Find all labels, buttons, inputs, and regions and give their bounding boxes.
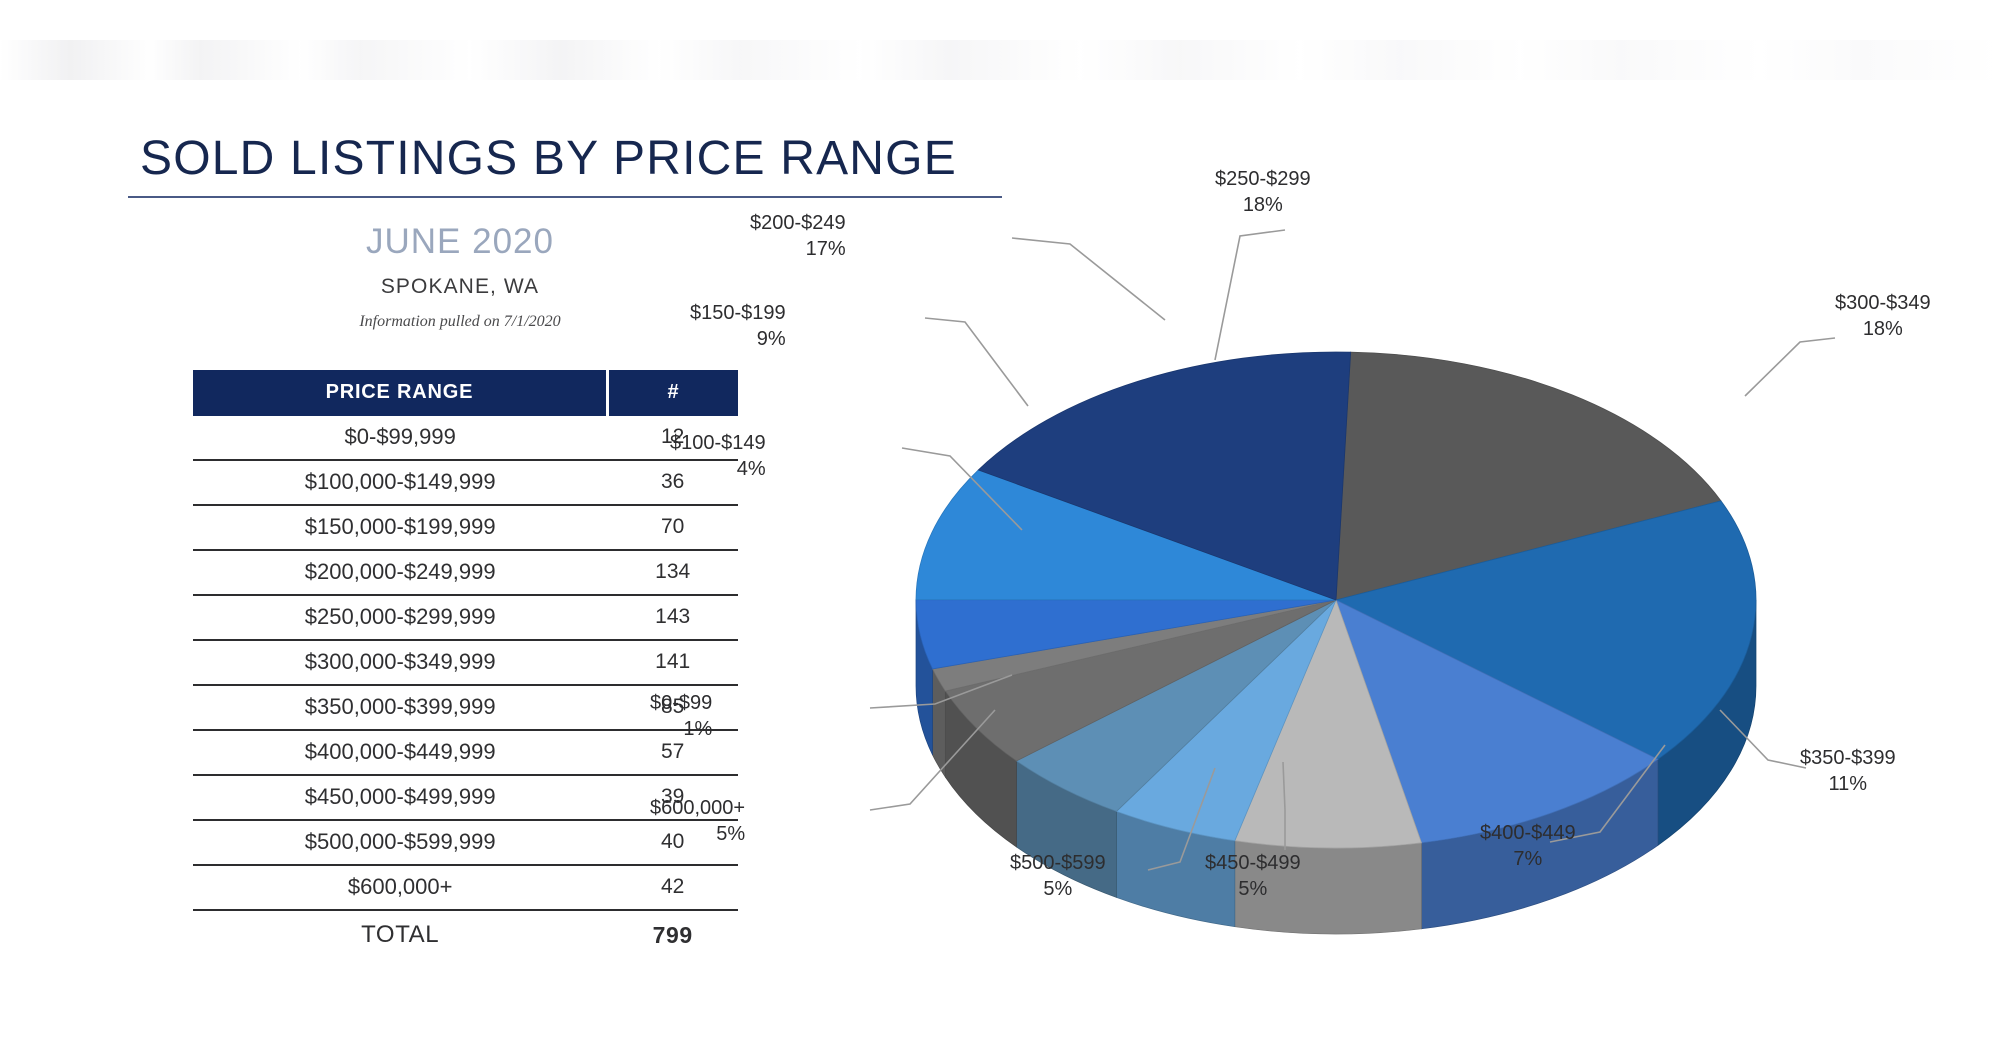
cell-price-range: $600,000+ xyxy=(193,865,607,910)
price-range-table: PRICE RANGE # $0-$99,99912$100,000-$149,… xyxy=(193,370,738,958)
subtitle-note: Information pulled on 7/1/2020 xyxy=(180,313,740,331)
cell-price-range: $100,000-$149,999 xyxy=(193,460,607,505)
total-count: 799 xyxy=(607,910,738,958)
table-row: $250,000-$299,999143 xyxy=(193,595,738,640)
pie-label-600000-plus: $600,000+5% xyxy=(650,795,745,848)
pie-label-250-299: $250-$29918% xyxy=(1215,166,1311,219)
top-banner-smudge xyxy=(0,40,2000,80)
cell-count: 134 xyxy=(607,550,738,595)
cell-price-range: $300,000-$349,999 xyxy=(193,640,607,685)
column-header-count: # xyxy=(607,370,738,416)
cell-price-range: $500,000-$599,999 xyxy=(193,820,607,865)
table-row: $100,000-$149,99936 xyxy=(193,460,738,505)
leader-line-1 xyxy=(1215,230,1285,360)
leader-line-0 xyxy=(1012,238,1165,320)
cell-count: 42 xyxy=(607,865,738,910)
pie-label-200-249: $200-$24917% xyxy=(750,210,846,263)
leader-line-10 xyxy=(925,318,1028,406)
pie-label-300-349: $300-$34918% xyxy=(1835,290,1931,343)
table-header-row: PRICE RANGE # xyxy=(193,370,738,416)
pie-label-100-149: $100-$1494% xyxy=(670,430,766,483)
cell-price-range: $350,000-$399,999 xyxy=(193,685,607,730)
pie-top-faces xyxy=(916,352,1756,848)
pie-label-150-199: $150-$1999% xyxy=(690,300,786,353)
pie-label-0-99: $0-$991% xyxy=(650,690,712,743)
subtitle-month: JUNE 2020 xyxy=(180,222,740,262)
pie-chart-svg xyxy=(760,170,2000,970)
table-row: $200,000-$249,999134 xyxy=(193,550,738,595)
cell-count: 70 xyxy=(607,505,738,550)
table-row: $0-$99,99912 xyxy=(193,416,738,460)
cell-price-range: $250,000-$299,999 xyxy=(193,595,607,640)
cell-price-range: $150,000-$199,999 xyxy=(193,505,607,550)
table-row: $150,000-$199,99970 xyxy=(193,505,738,550)
pie-label-350-399: $350-$39911% xyxy=(1800,745,1896,798)
total-label: TOTAL xyxy=(193,910,607,958)
cell-price-range: $450,000-$499,999 xyxy=(193,775,607,820)
table-body: $0-$99,99912$100,000-$149,99936$150,000-… xyxy=(193,416,738,958)
table-total-row: TOTAL799 xyxy=(193,910,738,958)
table-row: $300,000-$349,999141 xyxy=(193,640,738,685)
table-row: $600,000+42 xyxy=(193,865,738,910)
cell-count: 141 xyxy=(607,640,738,685)
subtitle-city: SPOKANE, WA xyxy=(180,275,740,299)
cell-price-range: $200,000-$249,999 xyxy=(193,550,607,595)
pie-label-500-599: $500-$5995% xyxy=(1010,850,1106,903)
leader-line-2 xyxy=(1745,338,1835,396)
pie-chart: $200-$24917% $250-$29918% $300-$34918% $… xyxy=(760,170,2000,970)
cell-price-range: $0-$99,999 xyxy=(193,416,607,460)
column-header-price-range: PRICE RANGE xyxy=(193,370,607,416)
pie-label-450-499: $450-$4995% xyxy=(1205,850,1301,903)
pie-label-400-449: $400-$4497% xyxy=(1480,820,1576,873)
cell-price-range: $400,000-$449,999 xyxy=(193,730,607,775)
cell-count: 143 xyxy=(607,595,738,640)
